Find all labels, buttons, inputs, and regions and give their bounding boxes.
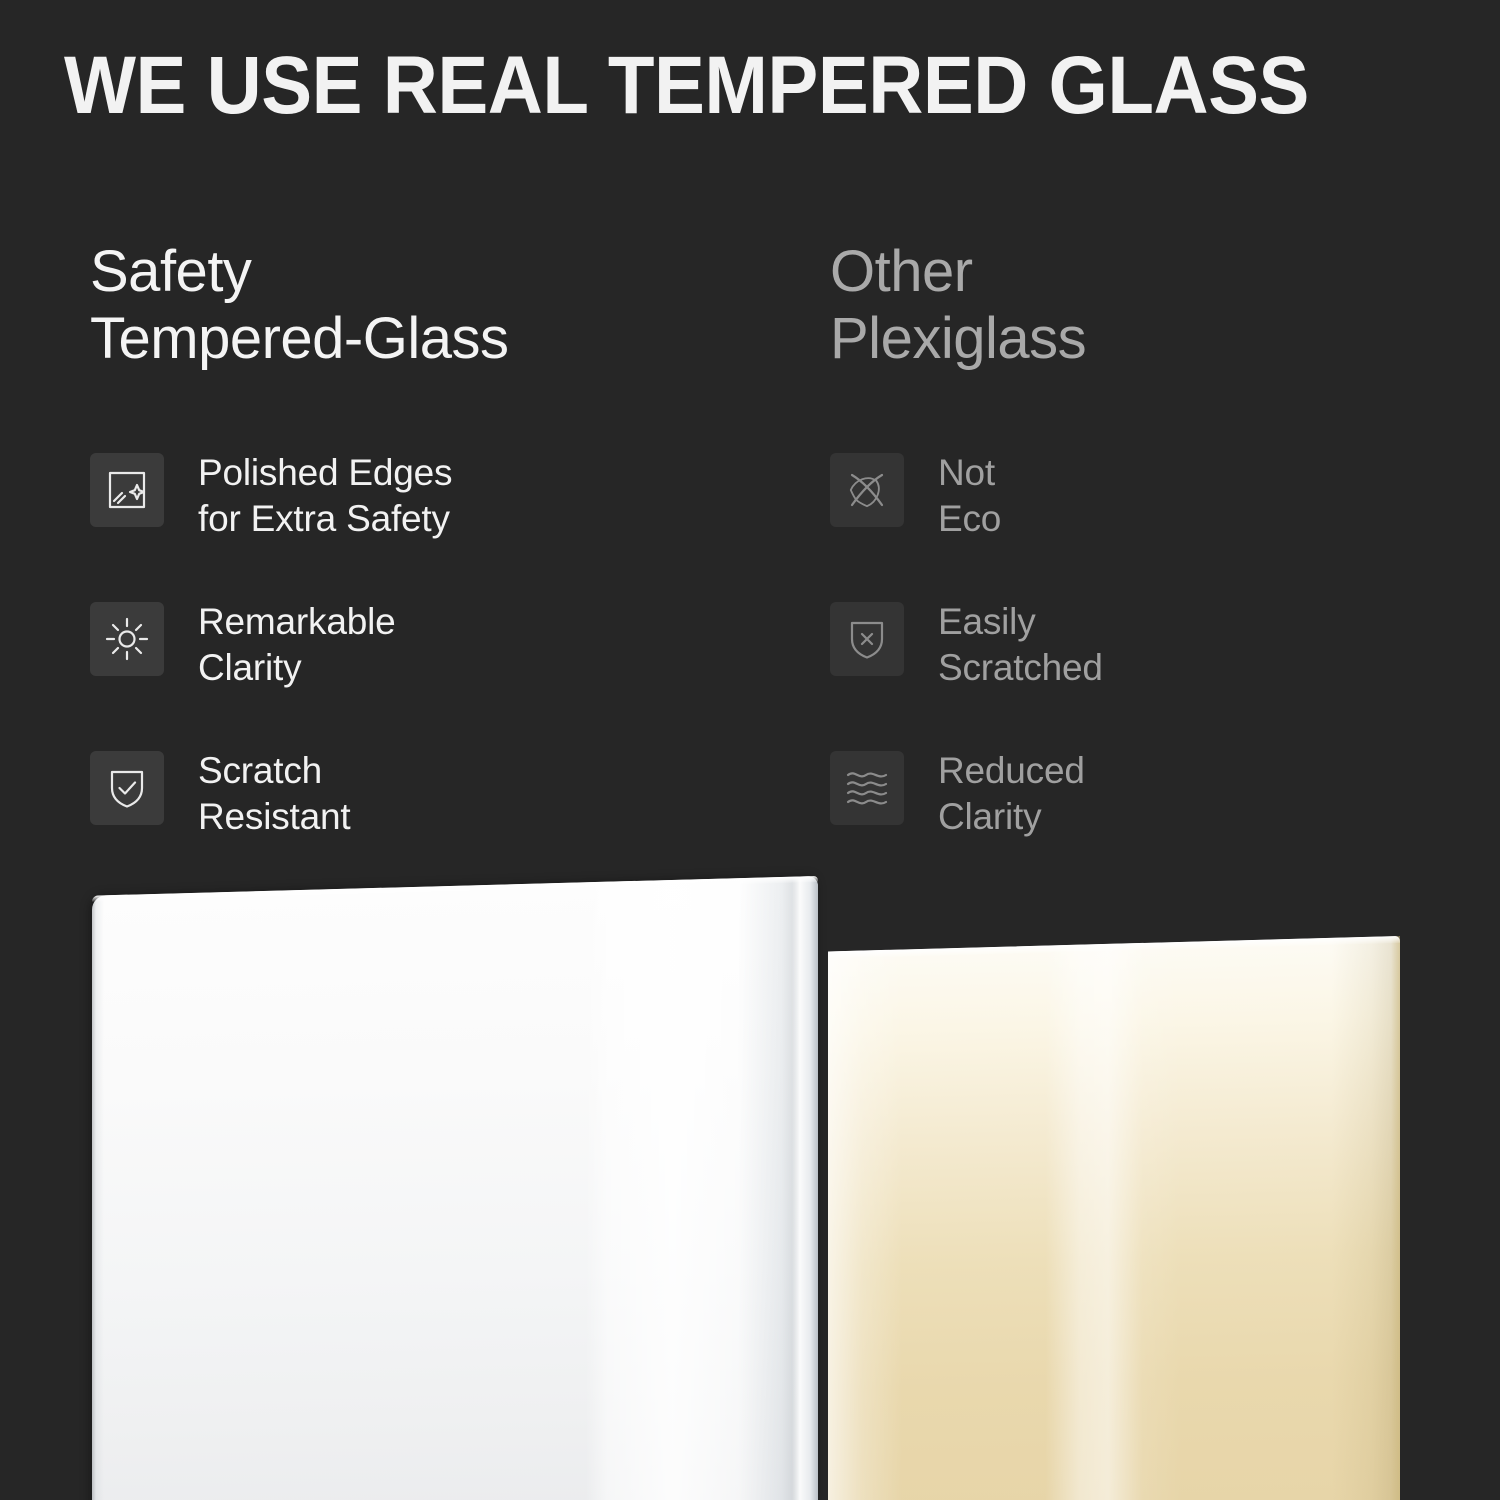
product-panels	[0, 860, 1500, 1500]
feature-row: Scratch Resistant	[90, 748, 830, 848]
feature-row: Polished Edges for Extra Safety	[90, 450, 830, 550]
feature-label: Easily Scratched	[938, 599, 1103, 691]
icon-tile	[90, 751, 164, 825]
icon-tile	[90, 602, 164, 676]
feature-label: Remarkable Clarity	[198, 599, 395, 691]
column-safety-tempered-glass: Safety Tempered-Glass Polished Edges for…	[0, 238, 830, 897]
feature-row: Reduced Clarity	[830, 748, 1500, 848]
feature-row: Not Eco	[830, 450, 1500, 550]
feature-row: Remarkable Clarity	[90, 599, 830, 699]
feature-row: Easily Scratched	[830, 599, 1500, 699]
feature-label: Scratch Resistant	[198, 748, 350, 840]
icon-tile	[90, 453, 164, 527]
icon-tile	[830, 453, 904, 527]
icon-tile	[830, 602, 904, 676]
tempered-glass-panel	[92, 876, 818, 1500]
polished-edge-sparkle-icon	[106, 469, 148, 511]
feature-label: Polished Edges for Extra Safety	[198, 450, 452, 542]
comparison-columns: Safety Tempered-Glass Polished Edges for…	[0, 238, 1500, 897]
icon-tile	[830, 751, 904, 825]
column-heading-other: Other Plexiglass	[830, 238, 1500, 372]
feature-list-safety: Polished Edges for Extra Safety Rema	[90, 450, 830, 848]
feature-label: Reduced Clarity	[938, 748, 1085, 840]
column-other-plexiglass: Other Plexiglass Not Eco	[830, 238, 1500, 897]
tempered-glass-panel-edge	[792, 876, 818, 1500]
sun-clarity-icon	[105, 617, 149, 661]
column-heading-safety: Safety Tempered-Glass	[90, 238, 830, 372]
feature-label: Not Eco	[938, 450, 1001, 542]
shield-x-icon	[846, 618, 888, 660]
feature-list-other: Not Eco Easily Scratched	[830, 450, 1500, 848]
wavy-lines-icon	[845, 768, 889, 808]
leaf-crossed-out-icon	[846, 469, 888, 511]
page-title: WE USE REAL TEMPERED GLASS	[64, 38, 1357, 134]
shield-check-icon	[106, 767, 148, 809]
plexiglass-panel	[828, 936, 1400, 1500]
plexiglass-panel-edge	[1391, 936, 1400, 1500]
